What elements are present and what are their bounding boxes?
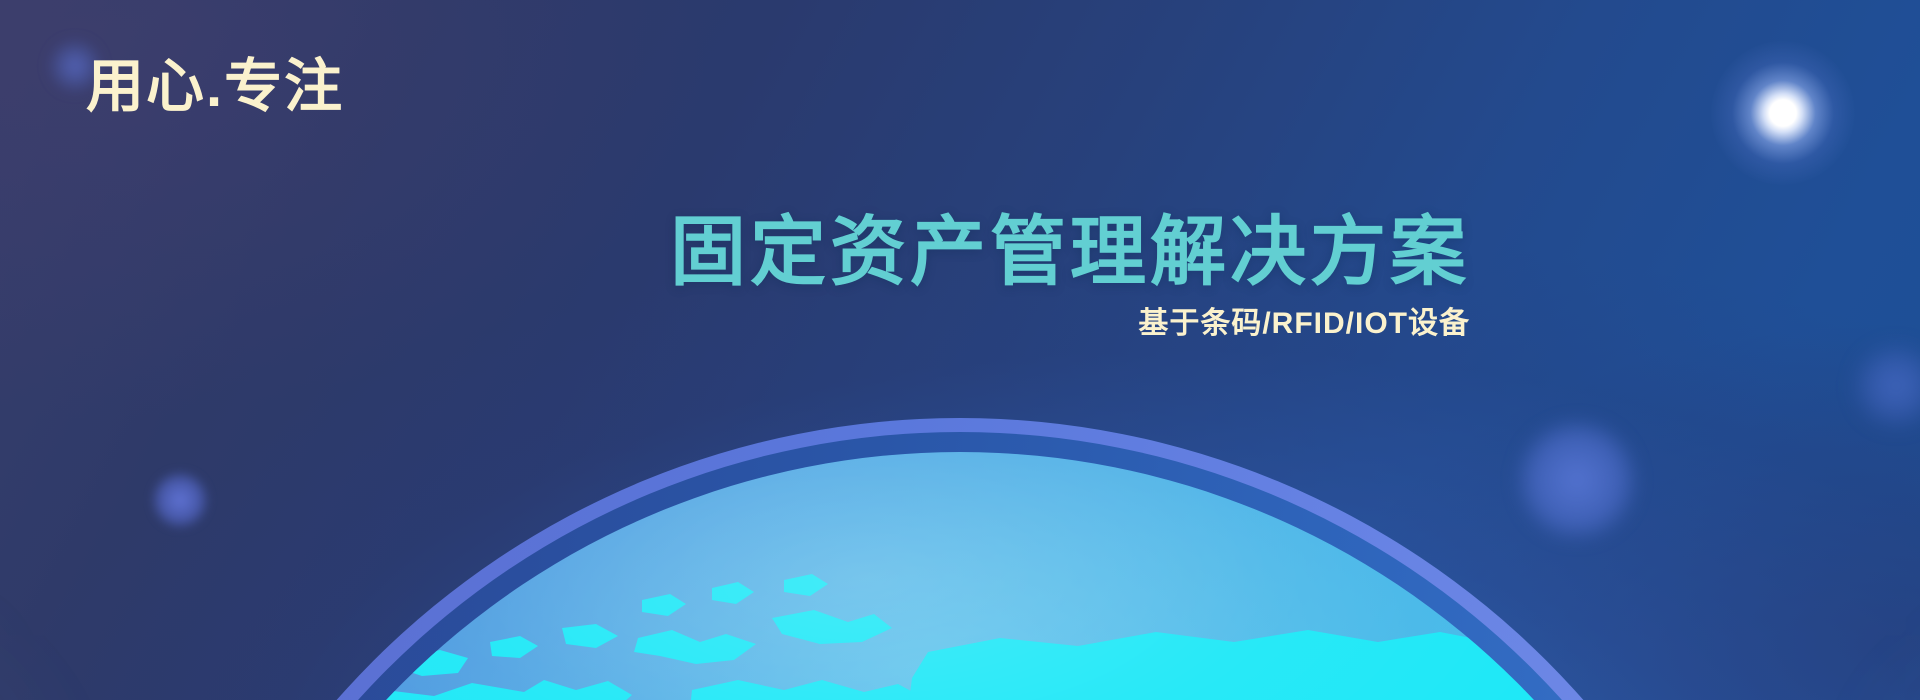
globe-sphere	[172, 452, 1748, 700]
page-subtitle: 基于条码/RFID/IOT设备	[0, 306, 1470, 342]
world-map-icon	[172, 452, 1748, 700]
headline-group: 固定资产管理解决方案 基于条码/RFID/IOT设备	[0, 212, 1470, 342]
brand-slogan: 用心.专注	[86, 58, 344, 116]
page-title: 固定资产管理解决方案	[0, 212, 1470, 294]
hero-banner: 用心.专注 固定资产管理解决方案 基于条码/RFID/IOT设备	[0, 0, 1920, 700]
